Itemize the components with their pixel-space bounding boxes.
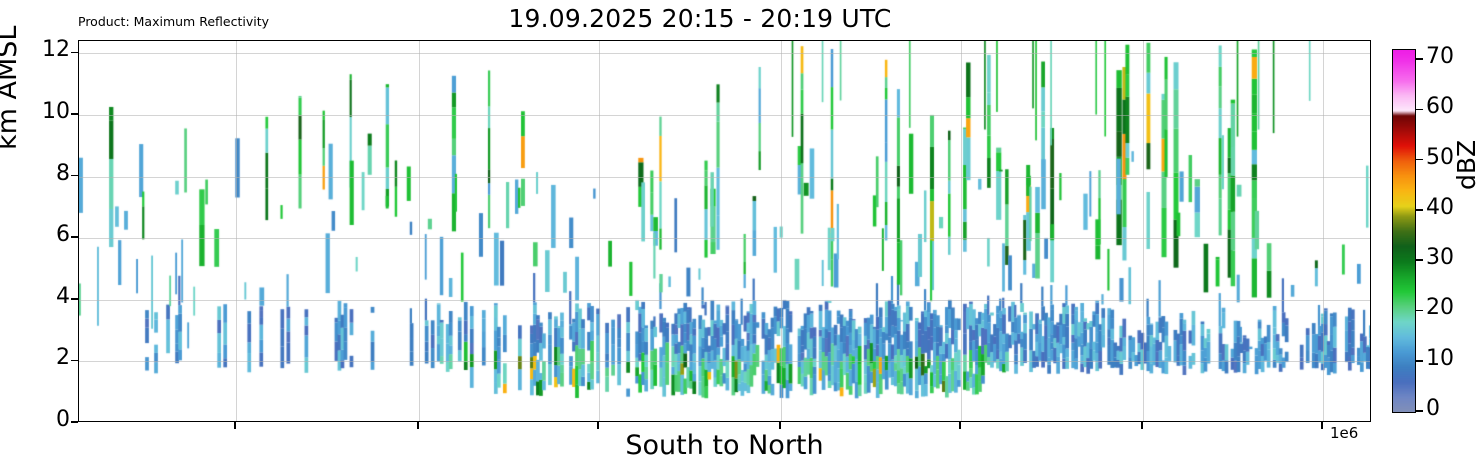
colorbar-tick-label: 10 — [1426, 346, 1454, 371]
colorbar-tick — [1416, 410, 1423, 412]
x-axis-tick — [417, 422, 419, 429]
y-axis-tick-label: 0 — [28, 407, 70, 432]
colorbar-tick — [1416, 109, 1423, 111]
colorbar-tick-label: 70 — [1426, 44, 1454, 69]
y-axis-tick — [71, 113, 78, 115]
gridline-vertical — [236, 41, 237, 422]
x-axis-tick — [959, 422, 961, 429]
plot-area — [78, 40, 1371, 422]
y-axis-label: km AMSL — [0, 26, 23, 150]
colorbar-tick-label: 60 — [1426, 94, 1454, 119]
gridline-vertical — [781, 41, 782, 422]
gridline-horizontal — [79, 238, 1371, 239]
colorbar-gradient — [1393, 50, 1415, 412]
y-axis-tick-label: 6 — [28, 222, 70, 247]
y-axis-tick — [71, 52, 78, 54]
colorbar-tick — [1416, 159, 1423, 161]
colorbar-tick — [1416, 360, 1423, 362]
y-axis-tick-label: 8 — [28, 161, 70, 186]
y-axis-tick — [71, 421, 78, 423]
y-axis-tick — [71, 236, 78, 238]
product-label: Product: Maximum Reflectivity — [78, 14, 269, 29]
colorbar-tick-label: 40 — [1426, 195, 1454, 220]
y-axis-tick-label: 4 — [28, 284, 70, 309]
y-axis-tick-label: 2 — [28, 345, 70, 370]
colorbar-tick-label: 30 — [1426, 245, 1454, 270]
gridline-horizontal — [79, 115, 1371, 116]
gridline-horizontal — [79, 53, 1371, 54]
x-axis-label: South to North — [78, 430, 1371, 461]
radar-cross-section-figure: 19.09.2025 20:15 - 20:19 UTC Product: Ma… — [0, 0, 1482, 470]
gridline-vertical — [599, 41, 600, 422]
y-axis-tick — [71, 175, 78, 177]
x-axis-offset-text: 1e6 — [1330, 424, 1358, 442]
colorbar-tick — [1416, 259, 1423, 261]
colorbar-title: dBZ — [1452, 140, 1481, 190]
gridline-vertical — [961, 41, 962, 422]
colorbar — [1392, 49, 1416, 413]
reflectivity-heatmap — [79, 41, 1371, 422]
gridline-horizontal — [79, 361, 1371, 362]
gridline-vertical — [1143, 41, 1144, 422]
y-axis-tick — [71, 298, 78, 300]
colorbar-tick-label: 0 — [1426, 396, 1440, 421]
x-axis-tick — [1141, 422, 1143, 429]
colorbar-tick-label: 50 — [1426, 145, 1454, 170]
x-axis-tick — [779, 422, 781, 429]
x-axis-tick — [1321, 422, 1323, 429]
x-axis-tick — [597, 422, 599, 429]
gridline-horizontal — [79, 177, 1371, 178]
gridline-vertical — [419, 41, 420, 422]
y-axis-tick — [71, 360, 78, 362]
gridline-horizontal — [79, 300, 1371, 301]
colorbar-tick-label: 20 — [1426, 295, 1454, 320]
colorbar-tick — [1416, 209, 1423, 211]
y-axis-tick-label: 12 — [28, 37, 70, 62]
gridline-vertical — [1323, 41, 1324, 422]
x-axis-tick — [234, 422, 236, 429]
y-axis-tick-label: 10 — [28, 99, 70, 124]
colorbar-tick — [1416, 310, 1423, 312]
colorbar-tick — [1416, 58, 1423, 60]
